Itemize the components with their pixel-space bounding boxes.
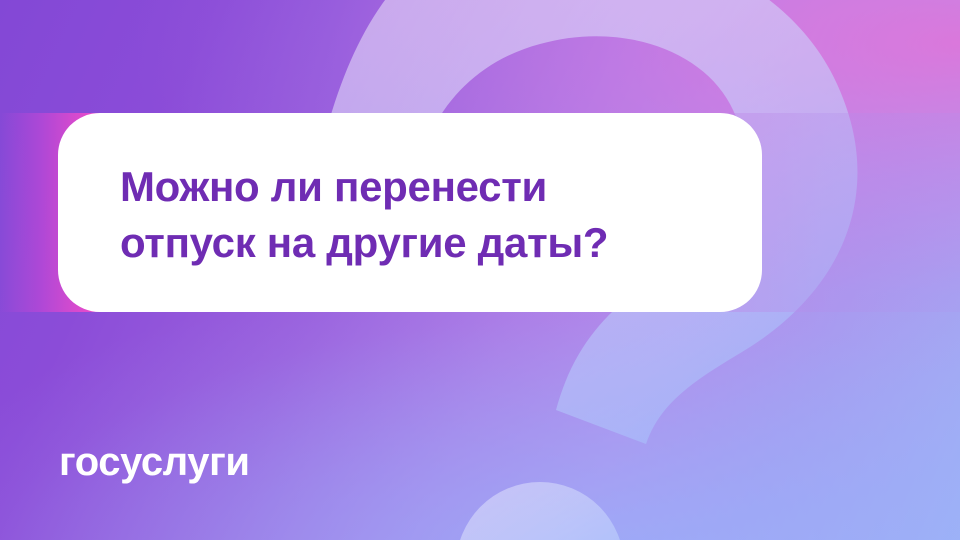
headline-card: Можно ли перенести отпуск на другие даты… [58,113,762,312]
page-title: Можно ли перенести отпуск на другие даты… [120,159,720,271]
brand-logo: госуслуги [59,440,250,484]
poster-canvas: Можно ли перенести отпуск на другие даты… [0,0,960,540]
